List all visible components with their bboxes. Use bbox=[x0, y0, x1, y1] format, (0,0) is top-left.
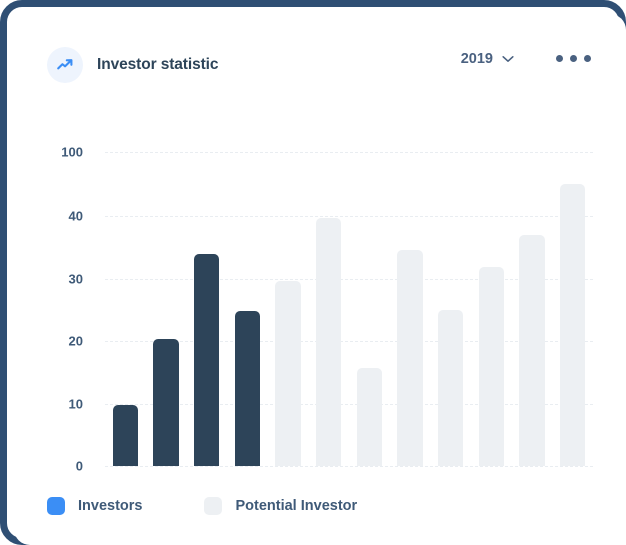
trending-up-icon bbox=[47, 47, 83, 83]
legend-swatch bbox=[204, 497, 222, 515]
kebab-dot bbox=[570, 55, 577, 62]
kebab-dot bbox=[556, 55, 563, 62]
chart-card-frame: Investor statistic 2019 bbox=[0, 0, 626, 545]
page-title: Investor statistic bbox=[97, 56, 218, 74]
year-dropdown[interactable]: 2019 bbox=[461, 51, 514, 67]
chart-bar[interactable] bbox=[113, 405, 138, 466]
y-axis-tick-label: 30 bbox=[69, 271, 83, 286]
chart-bar[interactable] bbox=[519, 235, 544, 466]
chart-bar[interactable] bbox=[397, 250, 422, 466]
investor-statistic-card: Investor statistic 2019 bbox=[14, 14, 626, 545]
bar-series-container bbox=[105, 132, 593, 466]
more-options-icon[interactable] bbox=[554, 49, 593, 68]
legend-item[interactable]: Investors bbox=[47, 497, 142, 515]
chart-bar[interactable] bbox=[560, 184, 585, 466]
y-axis-tick-label: 10 bbox=[69, 397, 83, 412]
y-axis-tick-label: 40 bbox=[69, 209, 83, 224]
y-axis-tick-label: 100 bbox=[61, 145, 83, 160]
kebab-dot bbox=[584, 55, 591, 62]
header-controls: 2019 bbox=[461, 49, 593, 68]
legend-item[interactable]: Potential Investor bbox=[204, 497, 357, 515]
chart-bar[interactable] bbox=[194, 254, 219, 466]
legend-label: Potential Investor bbox=[235, 498, 357, 514]
chart-plot-area: 100403020100 bbox=[47, 132, 593, 484]
chart-bar[interactable] bbox=[275, 281, 300, 466]
chart-legend: InvestorsPotential Investor bbox=[47, 497, 357, 515]
gridline bbox=[105, 466, 593, 467]
y-axis-tick-label: 0 bbox=[76, 459, 83, 474]
chevron-down-icon bbox=[502, 51, 514, 67]
card-header: Investor statistic 2019 bbox=[47, 47, 593, 91]
year-dropdown-value: 2019 bbox=[461, 51, 493, 67]
legend-swatch bbox=[47, 497, 65, 515]
chart-bar[interactable] bbox=[153, 339, 178, 466]
chart-bar[interactable] bbox=[357, 368, 382, 467]
chart-bar[interactable] bbox=[438, 310, 463, 466]
chart-bar[interactable] bbox=[235, 311, 260, 466]
legend-label: Investors bbox=[78, 498, 142, 514]
chart-bar[interactable] bbox=[479, 267, 504, 466]
y-axis-tick-label: 20 bbox=[69, 334, 83, 349]
chart-bar[interactable] bbox=[316, 218, 341, 466]
card-title-group: Investor statistic bbox=[47, 47, 218, 83]
y-axis: 100403020100 bbox=[47, 132, 93, 484]
